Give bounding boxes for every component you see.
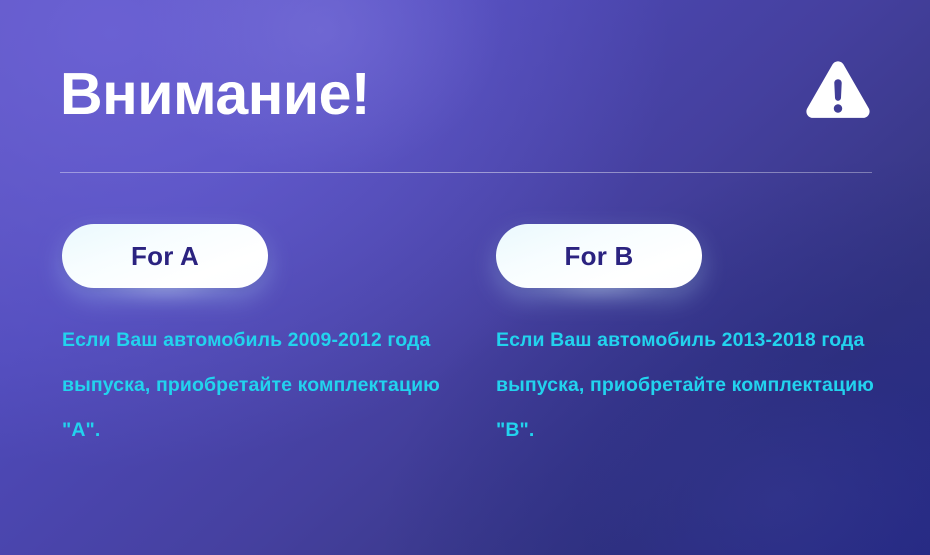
- for-b-button-label: For B: [565, 243, 634, 269]
- header-divider: [60, 172, 872, 173]
- page-title: Внимание!: [60, 52, 370, 136]
- option-column-for-a: For A Если Ваш автомобиль 2009-2012 года…: [62, 224, 452, 288]
- pill-wrap-for-a: For A: [62, 224, 268, 288]
- pill-wrap-for-b: For B: [496, 224, 702, 288]
- for-b-button[interactable]: For B: [496, 224, 702, 288]
- for-a-button[interactable]: For A: [62, 224, 268, 288]
- banner-header: Внимание!: [60, 52, 872, 144]
- warning-triangle-icon: [804, 60, 872, 124]
- for-a-description: Если Ваш автомобиль 2009-2012 года выпус…: [62, 318, 452, 453]
- option-column-for-b: For B Если Ваш автомобиль 2013-2018 года…: [496, 224, 886, 288]
- for-b-description: Если Ваш автомобиль 2013-2018 года выпус…: [496, 318, 886, 453]
- attention-banner: Внимание! For A Если Ваш автомобиль 2009…: [0, 0, 930, 555]
- for-a-button-label: For A: [131, 243, 199, 269]
